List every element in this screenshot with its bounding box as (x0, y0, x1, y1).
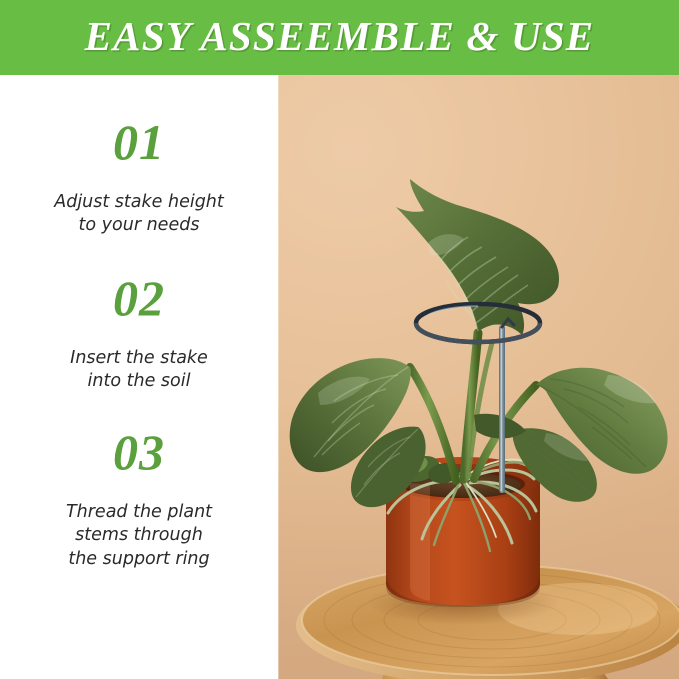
infographic-root: EASY ASSEEMBLE & USE 01 Adjust stake hei… (0, 0, 679, 679)
panel-left-edge (278, 75, 279, 679)
header-banner: EASY ASSEEMBLE & USE (0, 0, 679, 75)
step-text-01: Adjust stake height to your needs (54, 191, 224, 237)
steps-column: 01 Adjust stake height to your needs 02 … (0, 75, 278, 679)
leaf-top (396, 179, 559, 335)
step-item-01: 01 Adjust stake height to your needs (0, 117, 278, 237)
step-number-02: 02 (113, 273, 165, 323)
step-text-02: Insert the stake into the soil (70, 347, 208, 393)
page-title: EASY ASSEEMBLE & USE (85, 12, 595, 60)
step-number-03: 03 (113, 427, 165, 477)
product-photo (278, 75, 679, 679)
step-item-02: 02 Insert the stake into the soil (0, 273, 278, 393)
step-text-03: Thread the plant stems through the suppo… (66, 501, 212, 570)
plant-scene-illustration (278, 75, 679, 679)
plant-support-stake (499, 325, 505, 493)
step-number-01: 01 (113, 117, 165, 167)
step-item-03: 03 Thread the plant stems through the su… (0, 427, 278, 570)
